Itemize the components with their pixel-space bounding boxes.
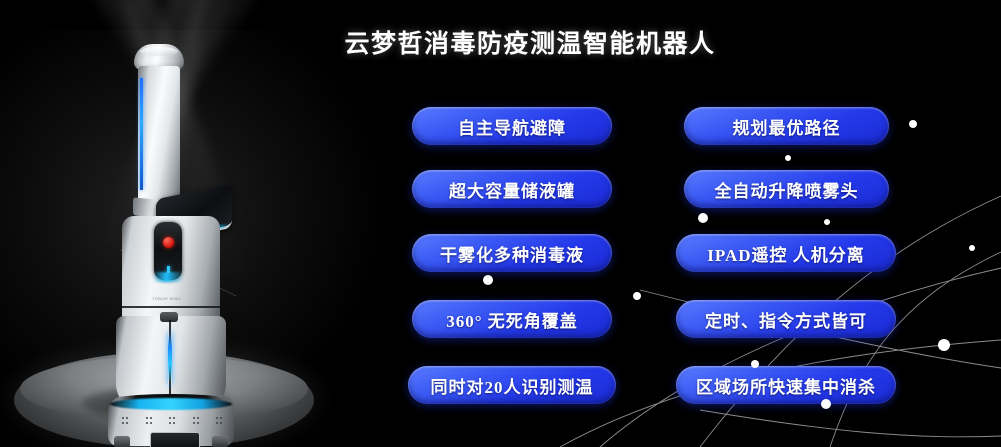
disinfection-robot-image: TOBOR M380 [100,44,240,416]
feature-pill-left-4[interactable]: 360° 无死角覆盖 [412,300,612,338]
sensor-dot-group [193,416,199,430]
feature-pill-right-3[interactable]: IPAD遥控 人机分离 [676,234,896,272]
feature-pill-left-2[interactable]: 超大容量储液罐 [412,170,612,208]
decor-dot [938,339,950,351]
sensor-dot-group [122,416,128,430]
feature-pill-right-2[interactable]: 全自动升降喷雾头 [684,170,889,208]
panel-edge-glow [152,272,184,282]
feature-pill-right-4[interactable]: 定时、指令方式皆可 [676,300,896,338]
status-led [167,266,170,273]
decor-dot [633,292,641,300]
sensor-dot-group [169,416,175,430]
base-sensor-array [122,416,222,430]
page-title: 云梦哲消毒防疫测温智能机器人 [320,24,740,60]
decor-dot [785,155,791,161]
mast-led-strip [140,78,143,190]
decor-dot [483,275,493,285]
sensor-dot-group [216,416,222,430]
base-led-ring [110,398,232,410]
feature-pill-right-1[interactable]: 规划最优路径 [684,107,889,145]
feature-pill-right-5[interactable]: 区域场所快速集中消杀 [676,366,896,404]
brand-mark-label: TOBOR M380 [152,296,192,302]
decor-dot [969,245,975,251]
feature-pill-left-5[interactable]: 同时对20人识别测温 [408,366,616,404]
decor-dot [909,120,917,128]
front-sensor-panel [150,432,200,447]
feature-pill-left-1[interactable]: 自主导航避障 [412,107,612,145]
decor-dot [824,219,830,225]
feature-pill-left-3[interactable]: 干雾化多种消毒液 [412,234,612,272]
wheel-right [212,436,228,447]
emergency-stop-button [163,237,174,248]
promotional-banner: TOBOR M380 云梦哲消毒防疫测温智能机器人 自主导航避障 超大容量储液罐… [0,0,1001,447]
sensor-dot-group [146,416,152,430]
body-led-strip [168,332,172,384]
decor-dot [698,213,708,223]
wheel-left [114,436,130,447]
telescopic-mast [138,66,180,206]
